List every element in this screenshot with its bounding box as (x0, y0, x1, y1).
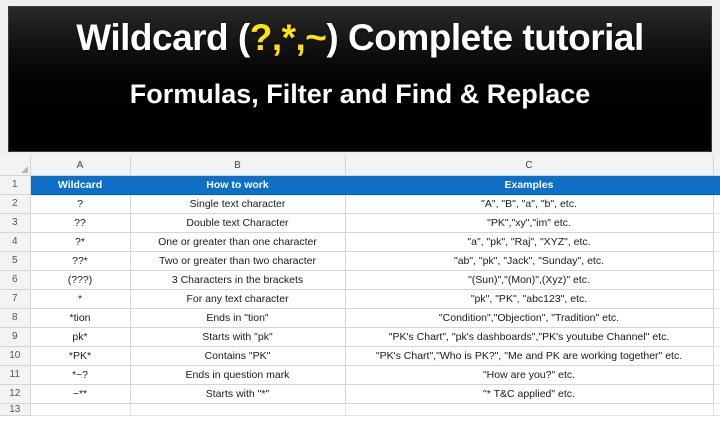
cell-examples[interactable]: "PK's Chart", "pk's dashboards","PK's yo… (345, 327, 713, 346)
empty-cell-d[interactable] (713, 327, 720, 346)
cell-examples[interactable]: "PK's Chart","Who is PK?", "Me and PK ar… (345, 346, 713, 365)
select-all-corner[interactable] (0, 156, 30, 175)
cell-examples[interactable]: "a", "pk", "Raj", "XYZ", etc. (345, 232, 713, 251)
table-header-how-to-work[interactable]: How to work (130, 175, 345, 194)
screenshot-root: Wildcard (?,*,~) Complete tutorial Formu… (0, 0, 720, 425)
row-header-3[interactable]: 3 (0, 213, 30, 232)
row-header-7[interactable]: 7 (0, 289, 30, 308)
cell-examples[interactable]: "Condition","Objection", "Tradition" etc… (345, 308, 713, 327)
empty-cell-b13[interactable] (130, 403, 345, 415)
cell-how-to-work[interactable]: Single text character (130, 194, 345, 213)
column-header-a[interactable]: A (30, 156, 130, 175)
cell-how-to-work[interactable]: Two or greater than two character (130, 251, 345, 270)
row-header-11[interactable]: 11 (0, 365, 30, 384)
cell-wildcard[interactable]: ?* (30, 232, 130, 251)
column-header-b[interactable]: B (130, 156, 345, 175)
cell-wildcard[interactable]: *tion (30, 308, 130, 327)
cell-examples[interactable]: "How are you?" etc. (345, 365, 713, 384)
cell-examples[interactable]: "PK","xy","im" etc. (345, 213, 713, 232)
table-header-examples[interactable]: Examples (345, 175, 713, 194)
empty-cell-d[interactable] (713, 213, 720, 232)
title-banner-frame: Wildcard (?,*,~) Complete tutorial Formu… (0, 0, 720, 156)
empty-cell-d[interactable] (713, 270, 720, 289)
cell-wildcard[interactable]: pk* (30, 327, 130, 346)
empty-cell-c13[interactable] (345, 403, 713, 415)
empty-cell-d[interactable] (713, 308, 720, 327)
banner-title-prefix: Wildcard ( (76, 17, 250, 58)
row-header-1[interactable]: 1 (0, 175, 30, 194)
table-row: 9 pk* Starts with "pk" "PK's Chart", "pk… (0, 327, 720, 346)
banner-title: Wildcard (?,*,~) Complete tutorial (76, 19, 644, 58)
title-banner: Wildcard (?,*,~) Complete tutorial Formu… (8, 6, 712, 152)
cell-examples[interactable]: "* T&C applied" etc. (345, 384, 713, 403)
table-row: 6 (???) 3 Characters in the brackets "(S… (0, 270, 720, 289)
cell-wildcard[interactable]: ? (30, 194, 130, 213)
row-header-5[interactable]: 5 (0, 251, 30, 270)
row-header-8[interactable]: 8 (0, 308, 30, 327)
banner-title-suffix: ) Complete tutorial (326, 17, 643, 58)
row-header-9[interactable]: 9 (0, 327, 30, 346)
spreadsheet-grid: A B C 1 Wildcard How to work Examples 2 … (0, 156, 720, 416)
table-row: 2 ? Single text character "A", "B", "a",… (0, 194, 720, 213)
empty-cell-d1[interactable] (713, 175, 720, 194)
column-header-c[interactable]: C (345, 156, 713, 175)
table-row: 3 ?? Double text Character "PK","xy","im… (0, 213, 720, 232)
empty-cell-d13[interactable] (713, 403, 720, 415)
cell-how-to-work[interactable]: One or greater than one character (130, 232, 345, 251)
cell-examples[interactable]: "ab", "pk", "Jack", "Sunday", etc. (345, 251, 713, 270)
table-row: 5 ??* Two or greater than two character … (0, 251, 720, 270)
table-row: 10 *PK* Contains "PK" "PK's Chart","Who … (0, 346, 720, 365)
cell-wildcard[interactable]: ??* (30, 251, 130, 270)
banner-title-wildcards: ?,*,~ (250, 17, 327, 58)
cell-examples[interactable]: "(Sun)","(Mon)",(Xyz)" etc. (345, 270, 713, 289)
row-header-13[interactable]: 13 (0, 403, 30, 415)
spreadsheet-area[interactable]: A B C 1 Wildcard How to work Examples 2 … (0, 156, 720, 425)
banner-subtitle: Formulas, Filter and Find & Replace (130, 80, 591, 108)
cell-wildcard[interactable]: ?? (30, 213, 130, 232)
empty-cell-d[interactable] (713, 384, 720, 403)
table-row-empty: 13 (0, 403, 720, 415)
table-header-row: 1 Wildcard How to work Examples (0, 175, 720, 194)
column-header-d[interactable] (713, 156, 720, 175)
table-row: 7 * For any text character "pk", "PK", "… (0, 289, 720, 308)
cell-examples[interactable]: "pk", "PK", "abc123", etc. (345, 289, 713, 308)
table-row: 4 ?* One or greater than one character "… (0, 232, 720, 251)
row-header-2[interactable]: 2 (0, 194, 30, 213)
row-header-10[interactable]: 10 (0, 346, 30, 365)
cell-wildcard[interactable]: (???) (30, 270, 130, 289)
cell-examples[interactable]: "A", "B", "a", "b", etc. (345, 194, 713, 213)
table-row: 12 ~** Starts with "*" "* T&C applied" e… (0, 384, 720, 403)
cell-how-to-work[interactable]: Starts with "*" (130, 384, 345, 403)
cell-how-to-work[interactable]: Starts with "pk" (130, 327, 345, 346)
table-row: 8 *tion Ends in "tion" "Condition","Obje… (0, 308, 720, 327)
cell-how-to-work[interactable]: Ends in "tion" (130, 308, 345, 327)
cell-wildcard[interactable]: ~** (30, 384, 130, 403)
empty-cell-d[interactable] (713, 251, 720, 270)
cell-how-to-work[interactable]: Ends in question mark (130, 365, 345, 384)
cell-how-to-work[interactable]: Double text Character (130, 213, 345, 232)
cell-wildcard[interactable]: *PK* (30, 346, 130, 365)
empty-cell-d[interactable] (713, 365, 720, 384)
cell-wildcard[interactable]: *~? (30, 365, 130, 384)
table-row: 11 *~? Ends in question mark "How are yo… (0, 365, 720, 384)
empty-cell-d[interactable] (713, 346, 720, 365)
empty-cell-d[interactable] (713, 194, 720, 213)
table-header-wildcard[interactable]: Wildcard (30, 175, 130, 194)
row-header-6[interactable]: 6 (0, 270, 30, 289)
empty-cell-d[interactable] (713, 289, 720, 308)
cell-how-to-work[interactable]: 3 Characters in the brackets (130, 270, 345, 289)
cell-wildcard[interactable]: * (30, 289, 130, 308)
select-all-triangle-icon (21, 166, 28, 173)
column-header-row: A B C (0, 156, 720, 175)
empty-cell-a13[interactable] (30, 403, 130, 415)
row-header-12[interactable]: 12 (0, 384, 30, 403)
cell-how-to-work[interactable]: For any text character (130, 289, 345, 308)
row-header-4[interactable]: 4 (0, 232, 30, 251)
empty-cell-d[interactable] (713, 232, 720, 251)
cell-how-to-work[interactable]: Contains "PK" (130, 346, 345, 365)
